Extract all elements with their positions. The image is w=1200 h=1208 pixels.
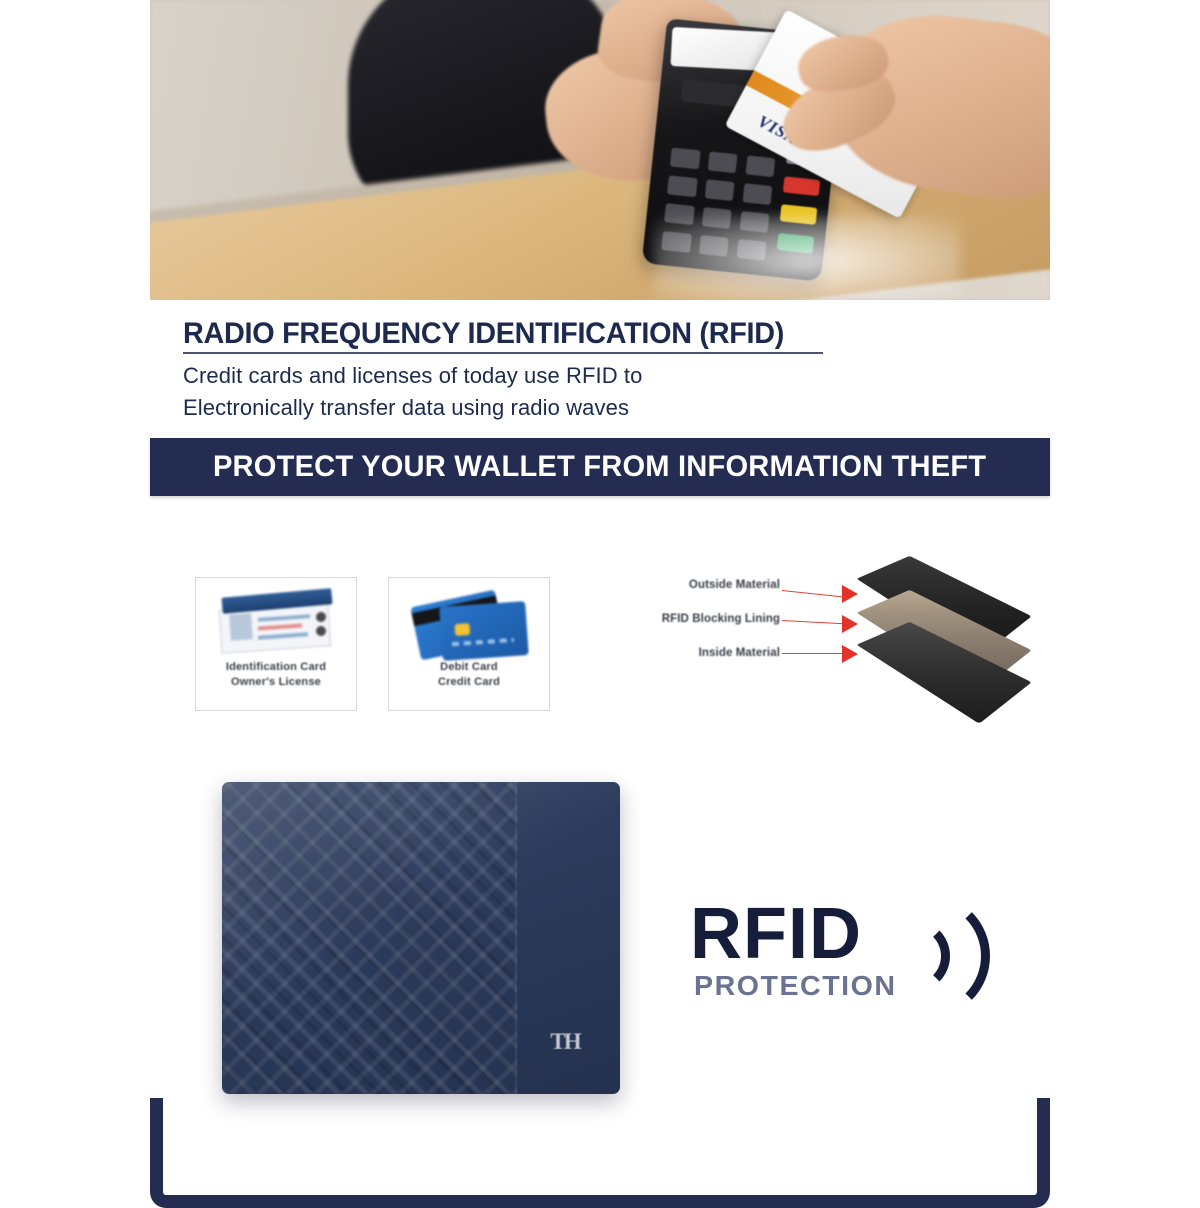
photo-terminal-key (742, 183, 772, 205)
feature-card-label-line-2: Credit Card (438, 676, 500, 688)
feature-card-payment: Debit Card Credit Card (388, 577, 550, 711)
signal-wave-outer-icon (866, 894, 990, 1018)
photo-terminal-key (705, 179, 735, 201)
feature-card-label-line-1: Debit Card (440, 661, 498, 673)
layer-label-rfid-blocking-lining: RFID Blocking Lining (662, 613, 780, 625)
page-title: RADIO FREQUENCY IDENTIFICATION (RFID) (183, 317, 784, 351)
rfid-logo-subtitle: PROTECTION (694, 970, 897, 1002)
protection-banner: PROTECT YOUR WALLET FROM INFORMATION THE… (150, 438, 1050, 496)
brand-monogram-badge: TH (548, 1022, 582, 1062)
leader-line (782, 590, 844, 598)
layer-label-outside-material: Outside Material (689, 579, 780, 591)
credit-card-chip (454, 623, 470, 636)
photo-terminal-key (745, 155, 775, 177)
credit-card-illustration (389, 578, 549, 660)
feature-row: Identification Card Owner's License Debi… (150, 520, 1050, 730)
identification-card-illustration (196, 578, 356, 660)
feature-card-label-line-1: Identification Card (226, 661, 326, 673)
layer-stack-illustration (852, 552, 1032, 702)
banner-label: PROTECT YOUR WALLET FROM INFORMATION THE… (213, 450, 986, 484)
rfid-logo-word: RFID (690, 898, 862, 970)
subtitle-line-2: Electronically transfer data using radio… (183, 395, 629, 420)
subtitle-line-1: Credit cards and licenses of today use R… (183, 363, 642, 388)
headline-block: RADIO FREQUENCY IDENTIFICATION (RFID) Cr… (150, 300, 1050, 438)
bottom-decorative-frame (150, 1098, 1050, 1208)
photo-terminal-key (708, 151, 738, 173)
layer-label-inside-material: Inside Material (699, 647, 780, 659)
product-wallet-photo: TH (222, 782, 620, 1094)
wallet-body: TH (222, 782, 620, 1094)
leader-line (782, 653, 844, 654)
photo-terminal-key (670, 147, 700, 169)
feature-card-label: Debit Card Credit Card (438, 660, 500, 690)
credit-card-front (439, 601, 529, 661)
page-subtitle: Credit cards and licenses of today use R… (183, 360, 642, 424)
hero-photo-contactless-payment: VISA (150, 0, 1050, 300)
photo-terminal-key-red (783, 176, 821, 196)
leader-line (782, 620, 844, 625)
photo-terminal-key (667, 175, 697, 197)
feature-card-label: Identification Card Owner's License (226, 660, 326, 690)
title-underline (183, 352, 823, 354)
credit-card-number-dots (452, 638, 514, 646)
poster-page: VISA RADIO FREQUENCY IDENTIFICATION (RFI… (0, 0, 1200, 1200)
photo-light-glare (654, 216, 960, 300)
rfid-protection-logo: RFID PROTECTION (690, 888, 1000, 1023)
layer-label-group: Outside Material RFID Blocking Lining In… (590, 558, 780, 708)
feature-card-label-line-2: Owner's License (231, 676, 321, 688)
material-layers-diagram: Outside Material RFID Blocking Lining In… (590, 558, 1030, 708)
feature-card-identification: Identification Card Owner's License (195, 577, 357, 711)
id-card-portrait (229, 613, 253, 640)
